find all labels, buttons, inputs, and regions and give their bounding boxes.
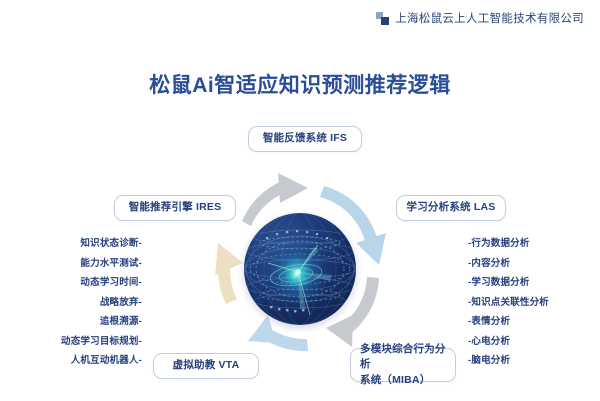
list-item: 人机互动机器人- bbox=[20, 351, 142, 371]
node-miba[interactable]: 多模块综合行为分析 系统（MIBA） bbox=[350, 348, 456, 382]
left-detail-list: 知识状态诊断- 能力水平测试- 动态学习时间- 战略放弃- 追根溯源- 动态学习… bbox=[20, 234, 142, 371]
right-detail-list: -行为数据分析 -内容分析 -学习数据分析 -知识点关联性分析 -表情分析 -心… bbox=[468, 234, 593, 371]
arrow-left-icon bbox=[215, 243, 243, 304]
list-item: -心电分析 bbox=[468, 332, 593, 352]
list-item: 动态学习时间- bbox=[20, 273, 142, 293]
list-item: -学习数据分析 bbox=[468, 273, 593, 293]
node-ires[interactable]: 智能推荐引擎 IRES bbox=[114, 195, 236, 221]
tech-globe-graphic bbox=[244, 213, 356, 325]
node-ifs[interactable]: 智能反馈系统 IFS bbox=[248, 126, 362, 152]
list-item: -知识点关联性分析 bbox=[468, 293, 593, 313]
list-item: 动态学习目标规划- bbox=[20, 332, 142, 352]
node-vta[interactable]: 虚拟助教 VTA bbox=[153, 353, 259, 379]
list-item: -脑电分析 bbox=[468, 351, 593, 371]
list-item: -内容分析 bbox=[468, 254, 593, 274]
node-las[interactable]: 学习分析系统 LAS bbox=[396, 195, 506, 221]
list-item: -表情分析 bbox=[468, 312, 593, 332]
list-item: 追根溯源- bbox=[20, 312, 142, 332]
diagram-stage: 智能反馈系统 IFS 智能推荐引擎 IRES 学习分析系统 LAS 虚拟助教 V… bbox=[0, 0, 600, 401]
list-item: 能力水平测试- bbox=[20, 254, 142, 274]
list-item: 知识状态诊断- bbox=[20, 234, 142, 254]
globe-grid-lines bbox=[244, 213, 356, 325]
list-item: 战略放弃- bbox=[20, 293, 142, 313]
list-item: -行为数据分析 bbox=[468, 234, 593, 254]
